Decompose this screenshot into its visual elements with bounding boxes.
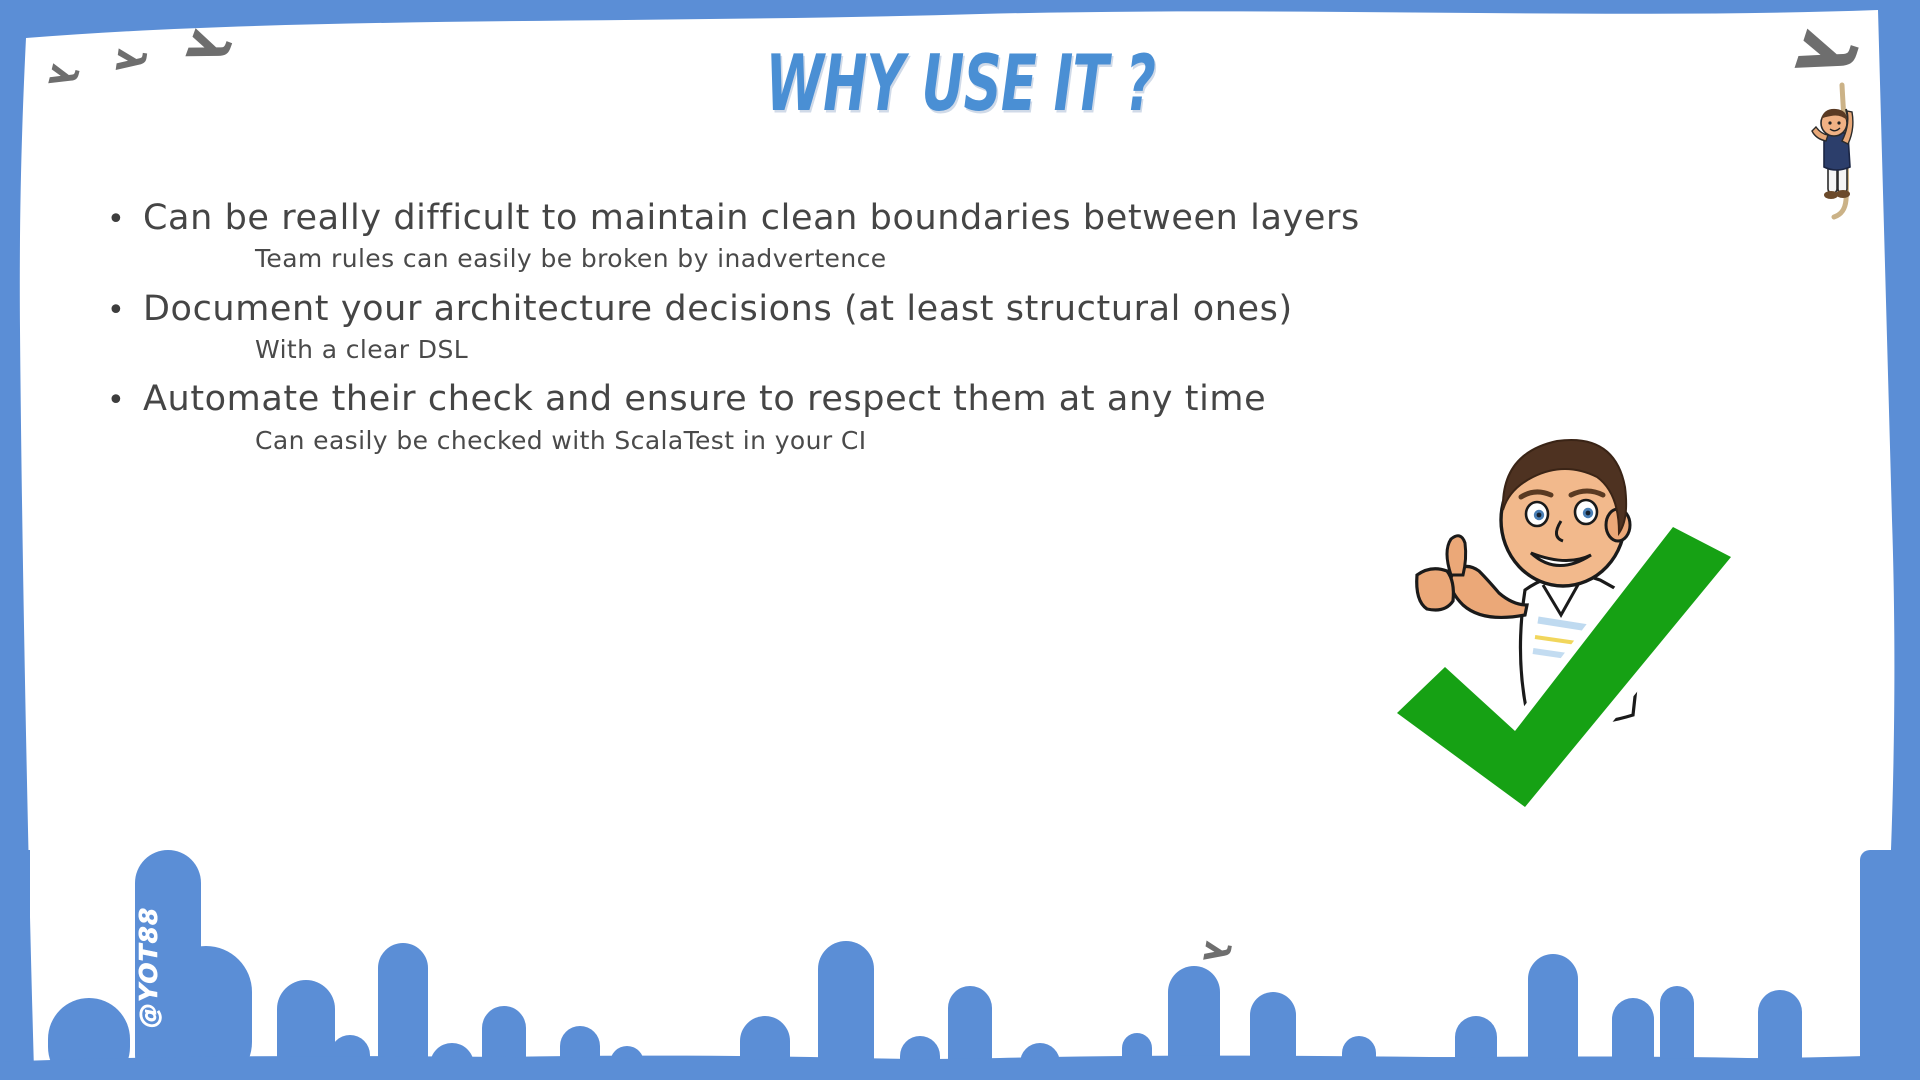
bullet-item: • Can be really difficult to maintain cl…	[95, 195, 1515, 241]
sub-bullet-item: With a clear DSL	[95, 334, 1515, 367]
city-skyline-decoration	[0, 850, 1920, 1080]
bullet-text: Can be really difficult to maintain clea…	[143, 195, 1360, 241]
climber-character	[1812, 109, 1853, 199]
watermark-handle: @YOT88	[134, 907, 163, 1028]
sub-bullet-item: Can easily be checked with ScalaTest in …	[95, 425, 1515, 458]
bullet-item: • Automate their check and ensure to res…	[95, 376, 1515, 422]
bullet-text: Automate their check and ensure to respe…	[143, 376, 1266, 422]
rope-climber-group: λ	[1790, 15, 1920, 220]
sub-bullet-text: Can easily be checked with ScalaTest in …	[255, 426, 867, 455]
bullet-marker-icon: •	[95, 205, 143, 235]
sub-bullet-item: Team rules can easily be broken by inadv…	[95, 243, 1515, 276]
sub-bullet-text: With a clear DSL	[255, 335, 468, 364]
bullet-marker-icon: •	[95, 386, 143, 416]
lambda-bird-icon: λ	[110, 46, 151, 75]
mascot-thumbs-up-checkmark	[1375, 415, 1775, 825]
slide-canvas: WHY USE IT ? λ λ λ λ λ	[0, 0, 1920, 1080]
sub-bullet-text: Team rules can easily be broken by inadv…	[255, 244, 887, 273]
bullet-marker-icon: •	[95, 296, 143, 326]
bullet-text: Document your architecture decisions (at…	[143, 286, 1293, 332]
bullet-item: • Document your architecture decisions (…	[95, 286, 1515, 332]
bullet-list: • Can be really difficult to maintain cl…	[95, 195, 1515, 467]
